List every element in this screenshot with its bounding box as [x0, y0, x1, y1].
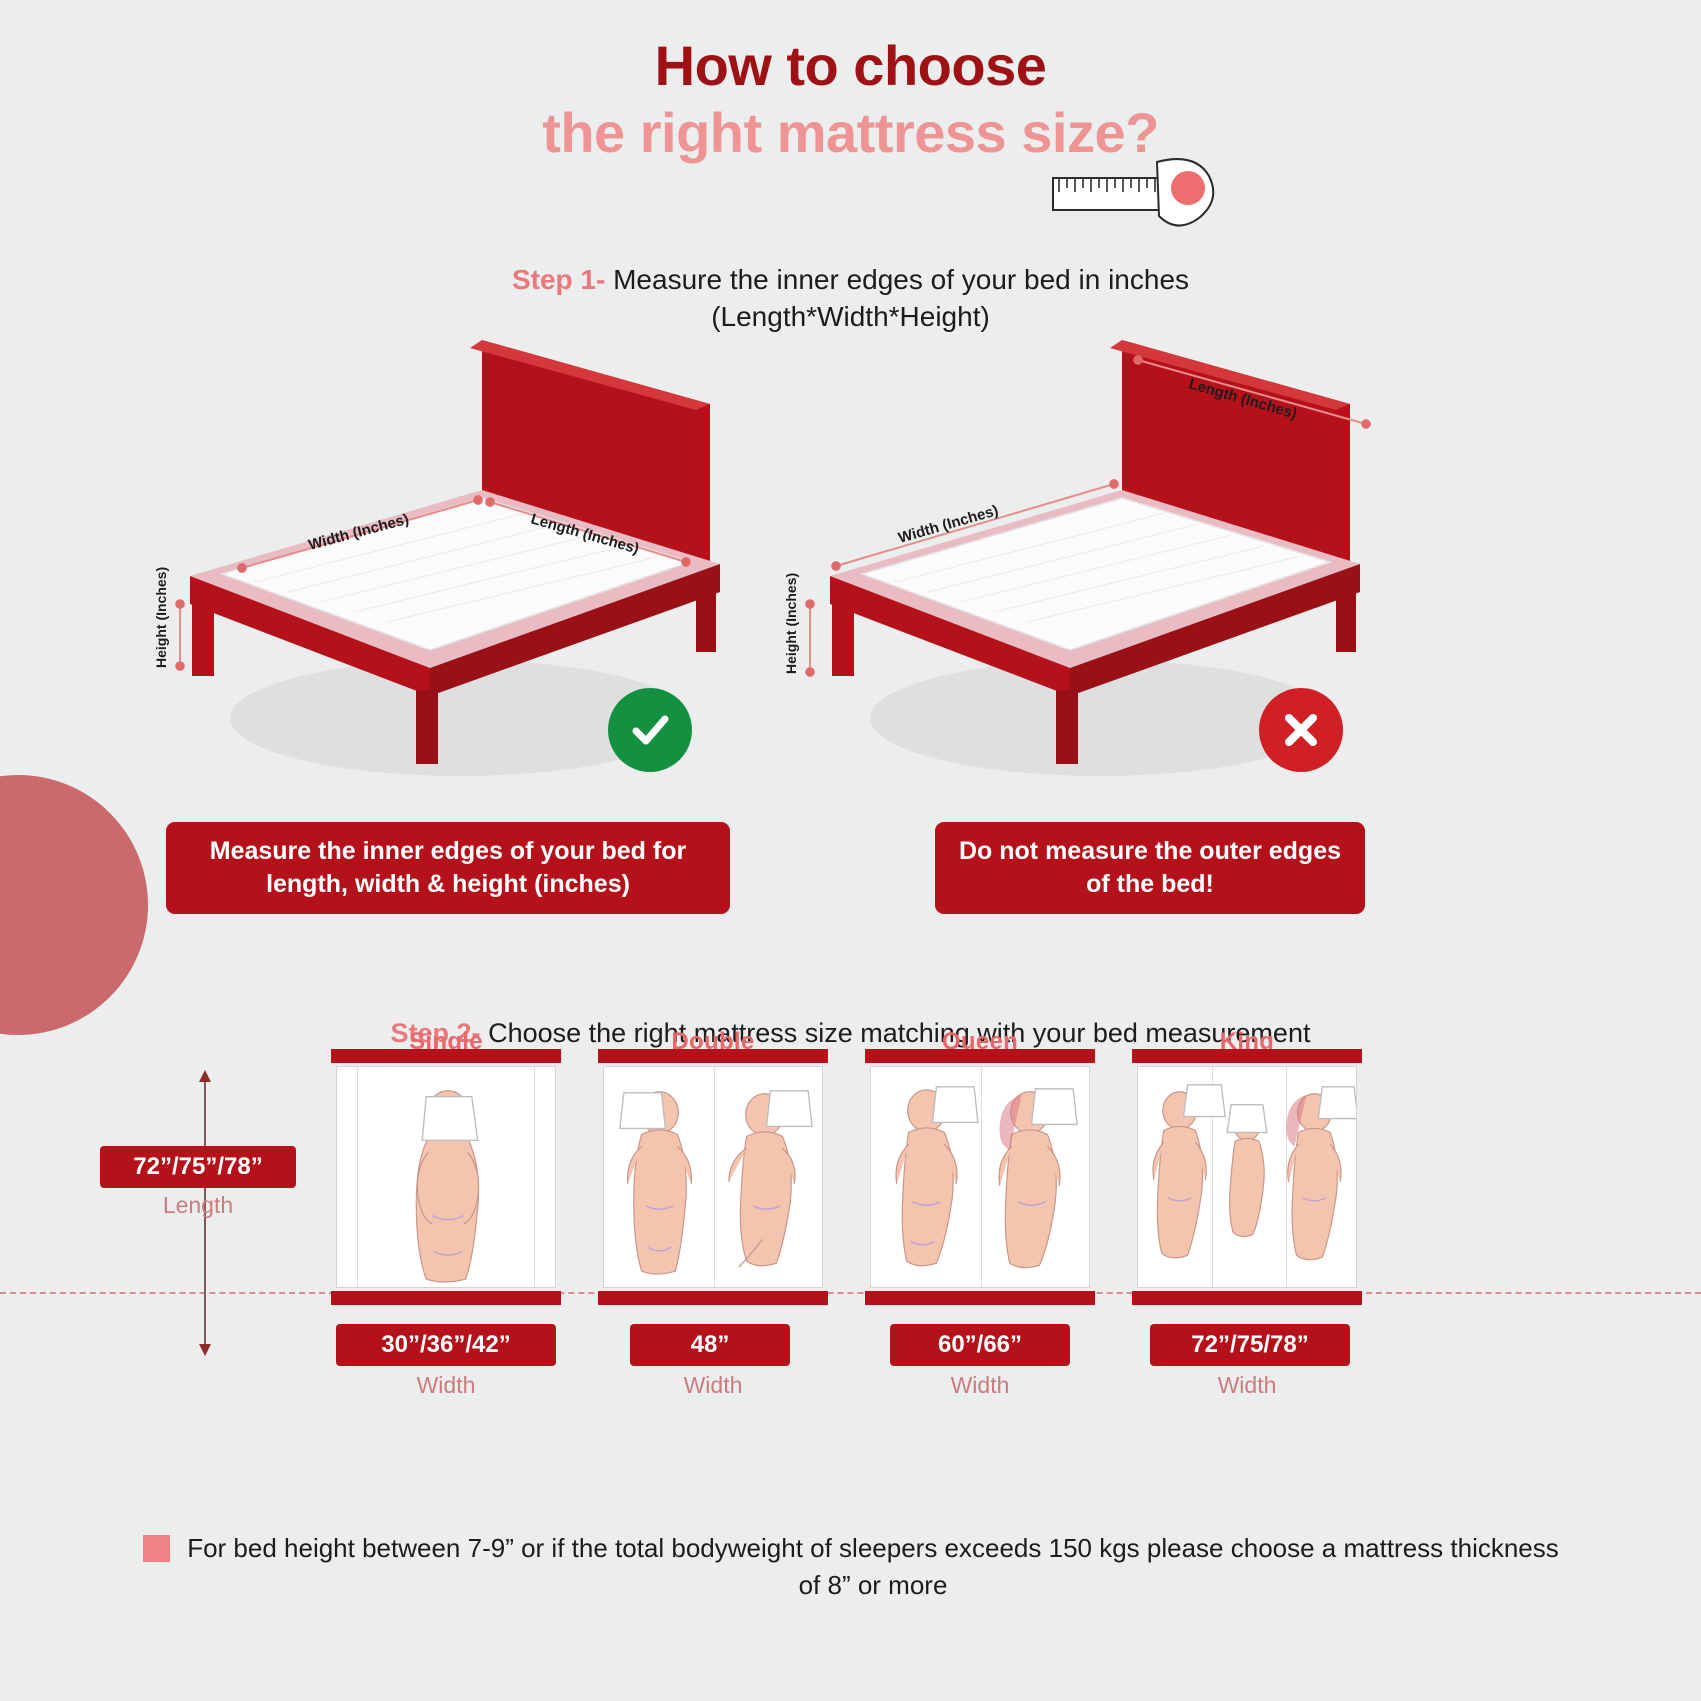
- step-1-tag: Step 1-: [512, 264, 605, 295]
- callout-correct: Measure the inner edges of your bed for …: [166, 822, 730, 914]
- sleeper-figures-single: [337, 1067, 555, 1287]
- width-badge-double: 48”: [630, 1324, 790, 1366]
- size-column-single: Single: [330, 1028, 562, 1288]
- left-bed-height-label: Height (Inches): [153, 567, 169, 668]
- cross-icon: [1279, 708, 1323, 752]
- sleeper-figures-queen: [871, 1067, 1089, 1287]
- sleeper-figures-double: [604, 1067, 822, 1287]
- title-line-2: the right mattress size?: [0, 102, 1701, 165]
- width-caption-king: Width: [1131, 1372, 1363, 1399]
- sleeper-figures-king: [1138, 1067, 1356, 1287]
- mattress-single: [336, 1066, 556, 1288]
- correct-badge: [608, 688, 692, 772]
- length-caption: Length: [100, 1192, 296, 1219]
- width-badge-king: 72”/75/78”: [1150, 1324, 1350, 1366]
- size-column-king: King: [1131, 1028, 1363, 1288]
- step-2-header: Step 2- Choose the right mattress size m…: [0, 1018, 1701, 1049]
- callout-incorrect: Do not measure the outer edges of the be…: [935, 822, 1365, 914]
- mattress-king: [1137, 1066, 1357, 1288]
- check-icon: [626, 706, 674, 754]
- incorrect-badge: [1259, 688, 1343, 772]
- mattress-queen: [870, 1066, 1090, 1288]
- step-1-line-1: Measure the inner edges of your bed in i…: [613, 264, 1189, 295]
- decorative-dashed-divider: [0, 1292, 1701, 1294]
- width-badge-queen: 60”/66”: [890, 1324, 1070, 1366]
- measuring-tape-icon: [1045, 152, 1220, 232]
- width-caption-double: Width: [597, 1372, 829, 1399]
- decorative-circle: [0, 775, 148, 1035]
- right-bed-height-label: Height (Inches): [783, 573, 799, 674]
- size-column-queen: Queen: [864, 1028, 1096, 1288]
- size-column-double: Double: [597, 1028, 829, 1288]
- infographic-canvas: How to choose the right mattress size? S…: [0, 0, 1701, 1701]
- width-caption-queen: Width: [864, 1372, 1096, 1399]
- footnote-text: For bed height between 7-9” or if the to…: [140, 1530, 1560, 1604]
- width-badge-single: 30”/36”/42”: [336, 1324, 556, 1366]
- mattress-double: [603, 1066, 823, 1288]
- title-line-1: How to choose: [0, 38, 1701, 94]
- width-caption-single: Width: [330, 1372, 562, 1399]
- page-title: How to choose the right mattress size?: [0, 38, 1701, 165]
- length-badge: 72”/75”/78”: [100, 1146, 296, 1188]
